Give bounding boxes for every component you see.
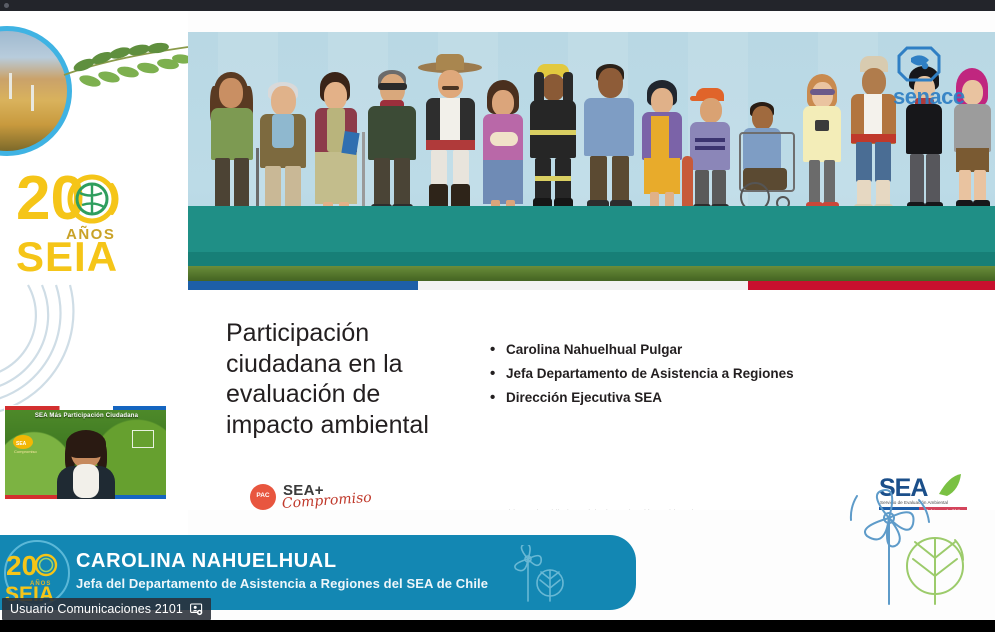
bottom-black-bar [0,620,995,632]
seia-20-years-logo: 20 AÑOS SEIA [14,159,154,279]
decorative-arcs [0,281,90,421]
illustration-ground [188,206,995,254]
senace-watermark: senace [877,42,989,116]
citizen-figure-wheelchair [736,96,798,216]
logo-program-label: SEIA [16,233,118,279]
citizen-figure [420,60,480,216]
flag-stripe-blue [188,281,418,290]
video-presenter-figure [53,434,119,500]
svg-text:SEA: SEA [16,441,27,447]
meeting-screen-share-view: 20 AÑOS SEIA [0,0,995,632]
participant-name-tag: Usuario Comunicaciones 2101 [2,598,211,620]
citizen-figure [310,70,362,216]
presentation-slide: senace Participación ciudadana en la eva… [188,32,995,510]
video-frame-marker [132,430,154,448]
window-title-bar [0,0,995,11]
slide-footer-text: Gobierno de Chile | Servicio de Evaluaci… [498,508,694,510]
participant-name-label: Usuario Comunicaciones 2101 [10,602,183,616]
citizen-figure [580,62,638,216]
banner-turbine-leaf-icon [508,545,570,603]
sea-compromiso-mark-text: PAC [250,492,276,499]
window-indicator-dot [4,3,9,8]
speaker-details-list: Carolina Nahuelhual Pulgar Jefa Departam… [488,342,888,414]
svg-text:Compromiso: Compromiso [14,449,37,454]
citizen-figure [364,66,420,216]
citizen-figure [526,64,580,216]
list-item: Dirección Ejecutiva SEA [488,390,888,405]
speaker-role: Jefa del Departamento de Asistencia a Re… [76,576,488,591]
screen-share-icon [190,603,203,616]
citizen-figure [686,84,734,216]
citizen-figure [256,74,310,216]
list-item: Jefa Departamento de Asistencia a Region… [488,366,888,381]
citizens-group [188,32,995,216]
speaker-name: CAROLINA NAHUELHUAL [76,550,337,573]
senace-wordmark: senace [893,84,965,110]
citizen-figure [798,72,846,216]
banner-logo-number: 20 [6,550,37,581]
slide-illustration: senace [188,32,995,290]
list-item: Carolina Nahuelhual Pulgar [488,342,888,357]
flag-stripe-red [748,281,995,290]
video-flag-stripe-top [5,406,166,410]
banner-seia-logo: 20 AÑOS SEIA [2,539,72,607]
slide-title: Participación ciudadana en la evaluación… [226,318,481,440]
video-overlay-title: SEA Más Participación Ciudadana [5,413,167,419]
slide-text-area: Participación ciudadana en la evaluación… [188,290,995,510]
citizen-figure [206,68,258,216]
flag-stripe-white [418,281,748,290]
wind-turbine-leaf-decoration [827,488,977,606]
sea-compromiso-mark: PAC [250,484,276,510]
logo-number: 20 [16,164,85,233]
citizen-figure [478,76,528,216]
presenter-video-thumbnail[interactable]: SEA Compromiso SEA Más Participación Ciu… [4,405,167,500]
citizen-figure [638,76,686,216]
olive-branch-illustration [62,41,188,111]
video-sea-compromiso-logo: SEA Compromiso [12,433,46,455]
sea-compromiso-logo: PAC SEA+ Compromiso [250,478,400,510]
